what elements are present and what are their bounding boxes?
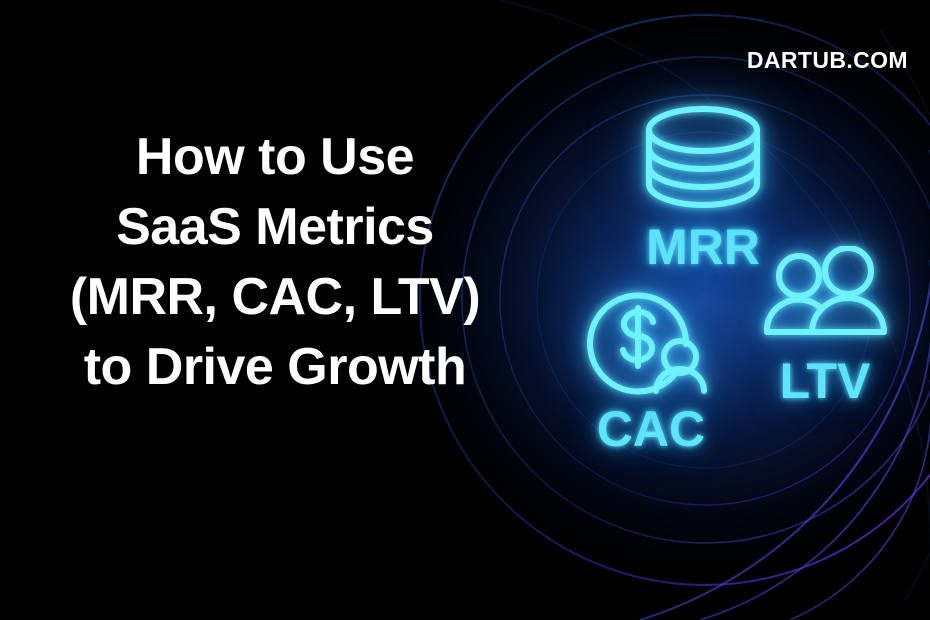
dollar-circle-person-icon xyxy=(558,278,744,396)
database-stack-icon xyxy=(608,104,798,210)
title-line-2: SaaS Metrics xyxy=(40,192,510,262)
brand-logo[interactable]: DARTUB.COM xyxy=(747,47,908,74)
page-title: How to Use SaaS Metrics (MRR, CAC, LTV) … xyxy=(40,122,510,402)
metric-cac-label: CAC xyxy=(558,404,744,454)
title-line-1: How to Use xyxy=(40,122,510,192)
metric-ltv-label: LTV xyxy=(742,356,908,406)
title-line-3: (MRR, CAC, LTV) xyxy=(40,262,510,332)
title-line-4: to Drive Growth xyxy=(40,332,510,402)
metric-ltv: LTV xyxy=(742,246,908,406)
metric-cac: CAC xyxy=(558,278,744,454)
decor-arc-3 xyxy=(790,380,930,620)
hero-banner: DARTUB.COM How to Use SaaS Metrics (MRR,… xyxy=(0,0,930,620)
two-people-icon xyxy=(742,246,908,350)
